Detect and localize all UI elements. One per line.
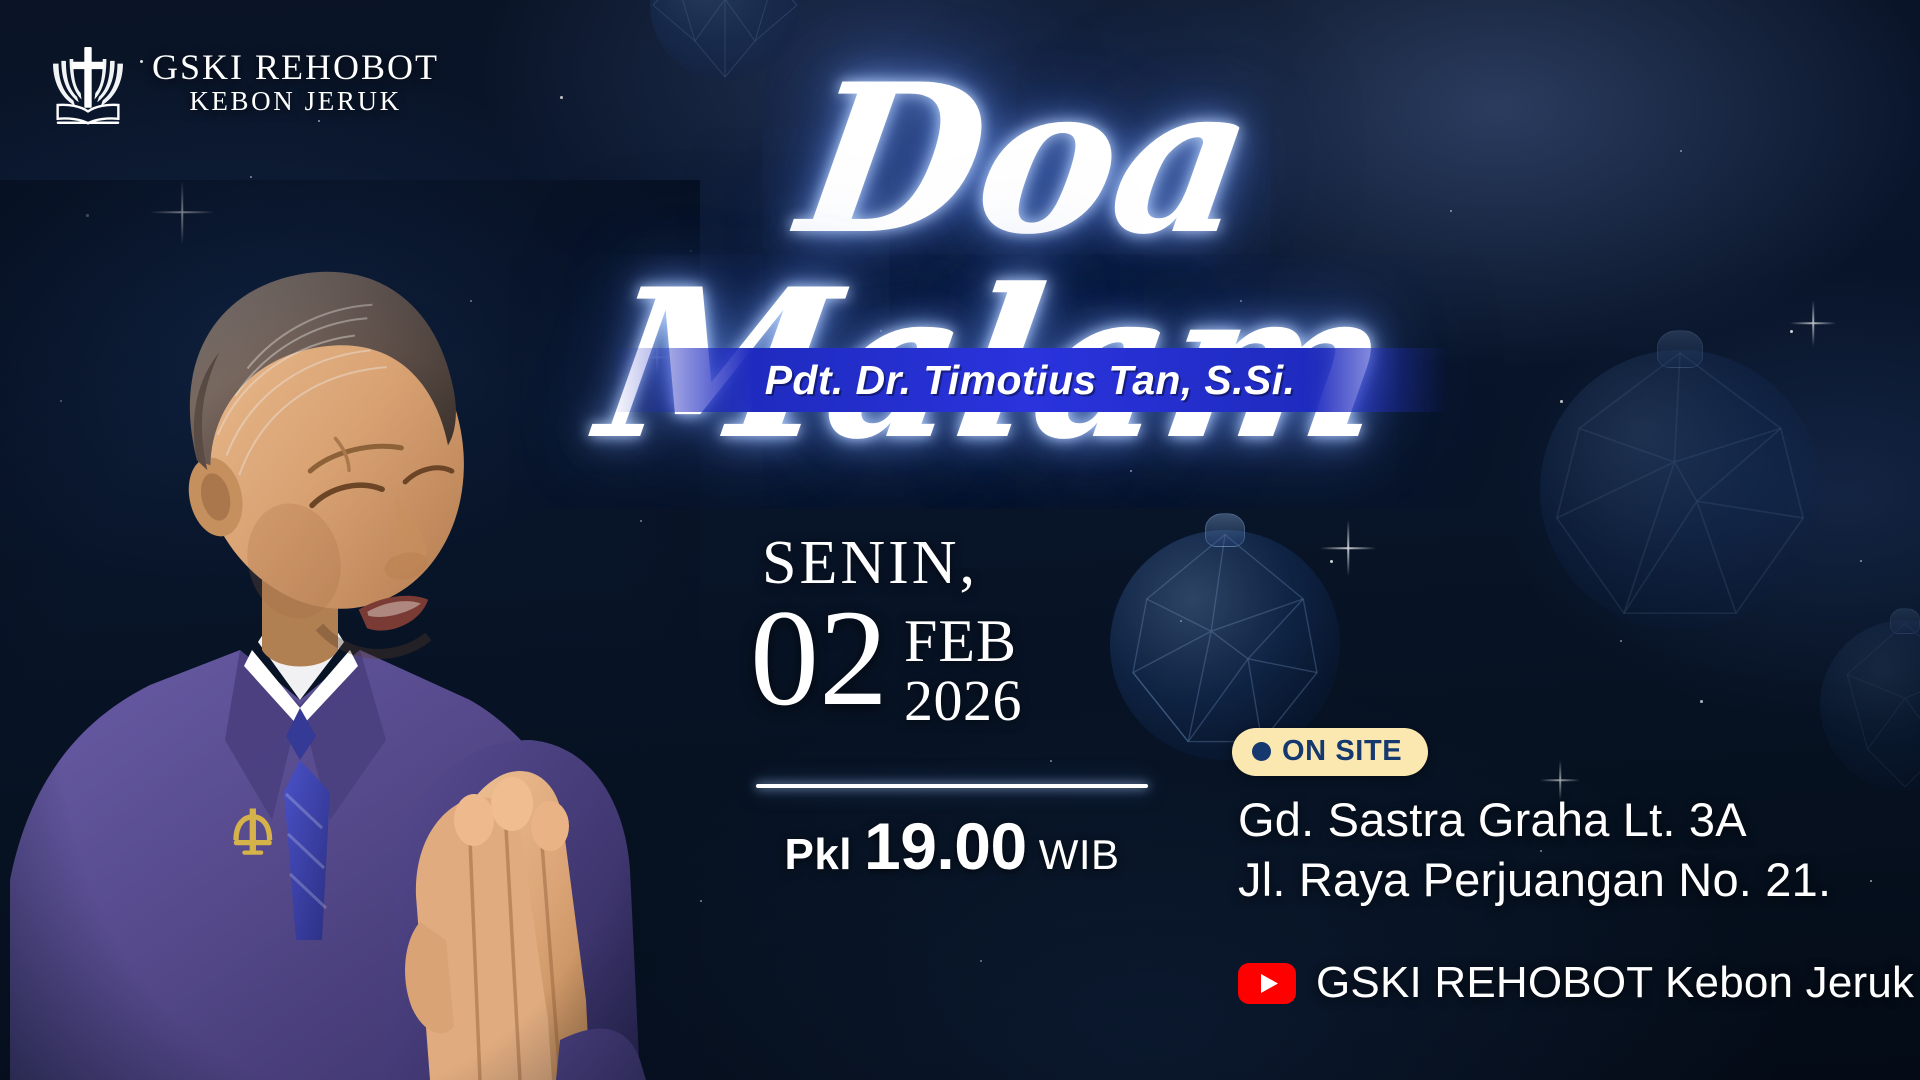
schedule-date-block: SENIN, 02 FEB 2026 — [742, 528, 1172, 732]
event-poster: GSKI REHOBOT KEBON JERUK — [0, 0, 1920, 1080]
speaker-banner: Pdt. Dr. Timotius Tan, S.Si. — [610, 348, 1450, 412]
schedule-time-row: Pkl 19.00 WIB — [742, 808, 1162, 884]
schedule-date-number: 02 — [750, 595, 888, 722]
youtube-icon[interactable] — [1238, 963, 1296, 1004]
address-line-2: Jl. Raya Perjuangan No. 21. — [1238, 850, 1831, 910]
time-zone: WIB — [1039, 831, 1120, 879]
address-line-1: Gd. Sastra Graha Lt. 3A — [1238, 790, 1831, 850]
cross-open-book-icon — [42, 36, 134, 128]
date-time-divider — [756, 784, 1148, 788]
schedule-month: FEB — [904, 611, 1022, 671]
youtube-channel-name: GSKI REHOBOT Kebon Jeruk — [1316, 958, 1914, 1008]
time-prefix: Pkl — [784, 830, 852, 880]
sphere-ornament-far-right — [1820, 620, 1920, 790]
venue-address: Gd. Sastra Graha Lt. 3A Jl. Raya Perjuan… — [1238, 790, 1831, 910]
bullet-dot-icon — [1252, 742, 1271, 761]
time-value: 19.00 — [864, 808, 1027, 884]
sphere-ornament-right — [1540, 350, 1820, 630]
status-badge: ON SITE — [1232, 728, 1428, 776]
speaker-name: Pdt. Dr. Timotius Tan, S.Si. — [765, 357, 1296, 404]
church-logo: GSKI REHOBOT KEBON JERUK — [42, 36, 439, 128]
brand-line-2: KEBON JERUK — [152, 87, 439, 115]
onsite-label: ON SITE — [1282, 735, 1402, 768]
brand-line-1: GSKI REHOBOT — [152, 49, 439, 86]
youtube-channel-row[interactable]: GSKI REHOBOT Kebon Jeruk — [1238, 958, 1914, 1008]
schedule-year: 2026 — [904, 671, 1022, 732]
church-wordmark: GSKI REHOBOT KEBON JERUK — [152, 49, 439, 115]
